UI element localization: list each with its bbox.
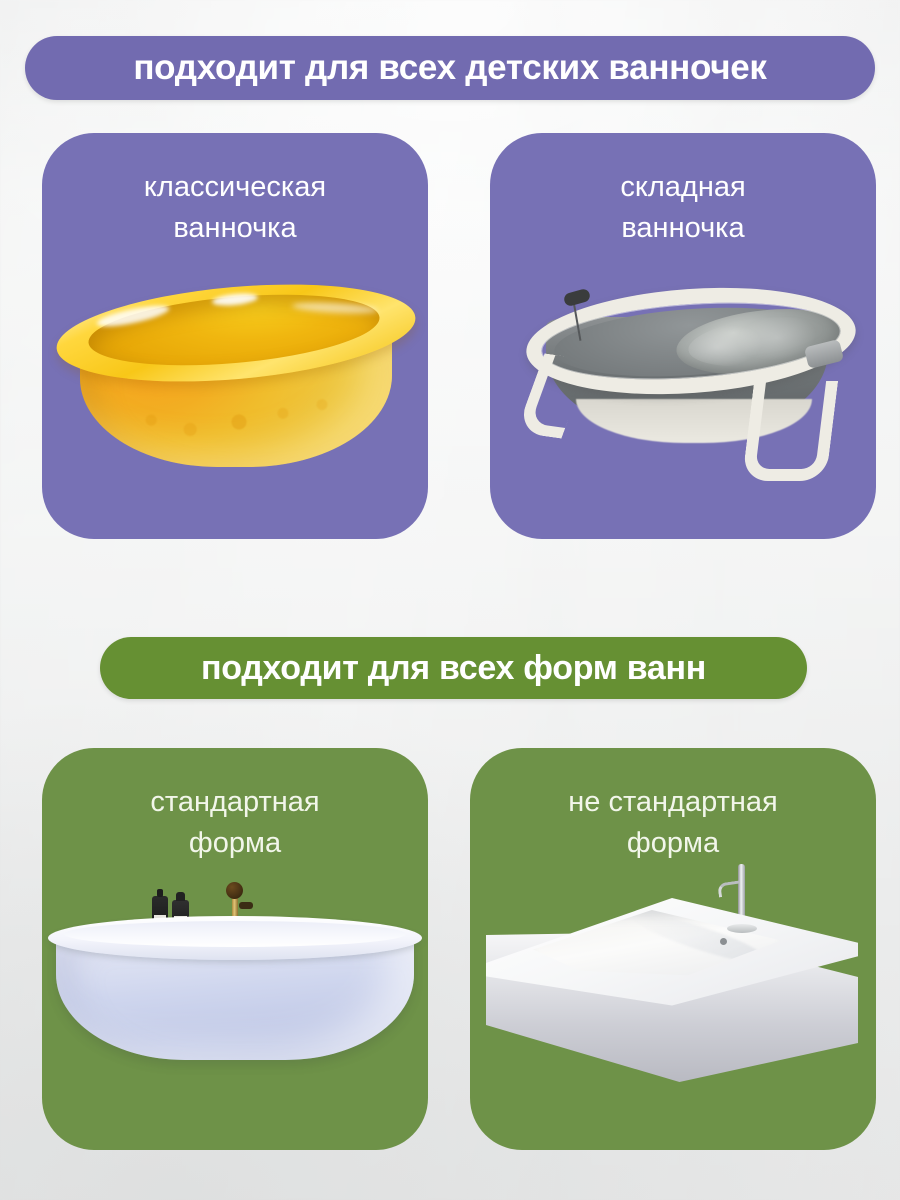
card-standard-bath-shape: стандартная форма bbox=[42, 748, 428, 1150]
folding-bath-leg-right bbox=[742, 381, 838, 481]
faucet-head bbox=[226, 882, 243, 899]
banner-baby-baths: подходит для всех детских ванночек bbox=[25, 36, 875, 100]
photo-corner-bathtub bbox=[470, 860, 876, 1150]
card-non-standard-bath-shape: не стандартная форма bbox=[470, 748, 876, 1150]
folding-bath-drain-knob bbox=[563, 288, 592, 308]
card-title-classic-baby-bath: классическая ванночка bbox=[42, 167, 428, 249]
yellow-baby-bath-icon bbox=[42, 267, 428, 497]
photo-folding-baby-bath bbox=[490, 249, 876, 539]
faucet-handle bbox=[239, 902, 253, 909]
banner-bath-shapes: подходит для всех форм ванн bbox=[100, 637, 807, 699]
card-title-non-standard-bath-shape: не стандартная форма bbox=[470, 782, 876, 864]
infographic-page: подходит для всех детских ванночек класс… bbox=[0, 0, 900, 1200]
freestanding-bathtub-icon bbox=[42, 890, 428, 1120]
card-folding-baby-bath: складная ванночка bbox=[490, 133, 876, 539]
card-title-folding-baby-bath: складная ванночка bbox=[490, 167, 876, 249]
card-title-standard-bath-shape: стандартная форма bbox=[42, 782, 428, 864]
card-classic-baby-bath: классическая ванночка bbox=[42, 133, 428, 539]
faucet-base bbox=[727, 924, 757, 933]
corner-bathtub-icon bbox=[470, 880, 876, 1125]
photo-standard-bathtub bbox=[42, 860, 428, 1150]
photo-classic-baby-bath bbox=[42, 249, 428, 539]
grey-folding-baby-bath-icon bbox=[490, 259, 876, 509]
overflow-drain-icon bbox=[720, 938, 727, 945]
bathtub-interior bbox=[64, 921, 406, 947]
